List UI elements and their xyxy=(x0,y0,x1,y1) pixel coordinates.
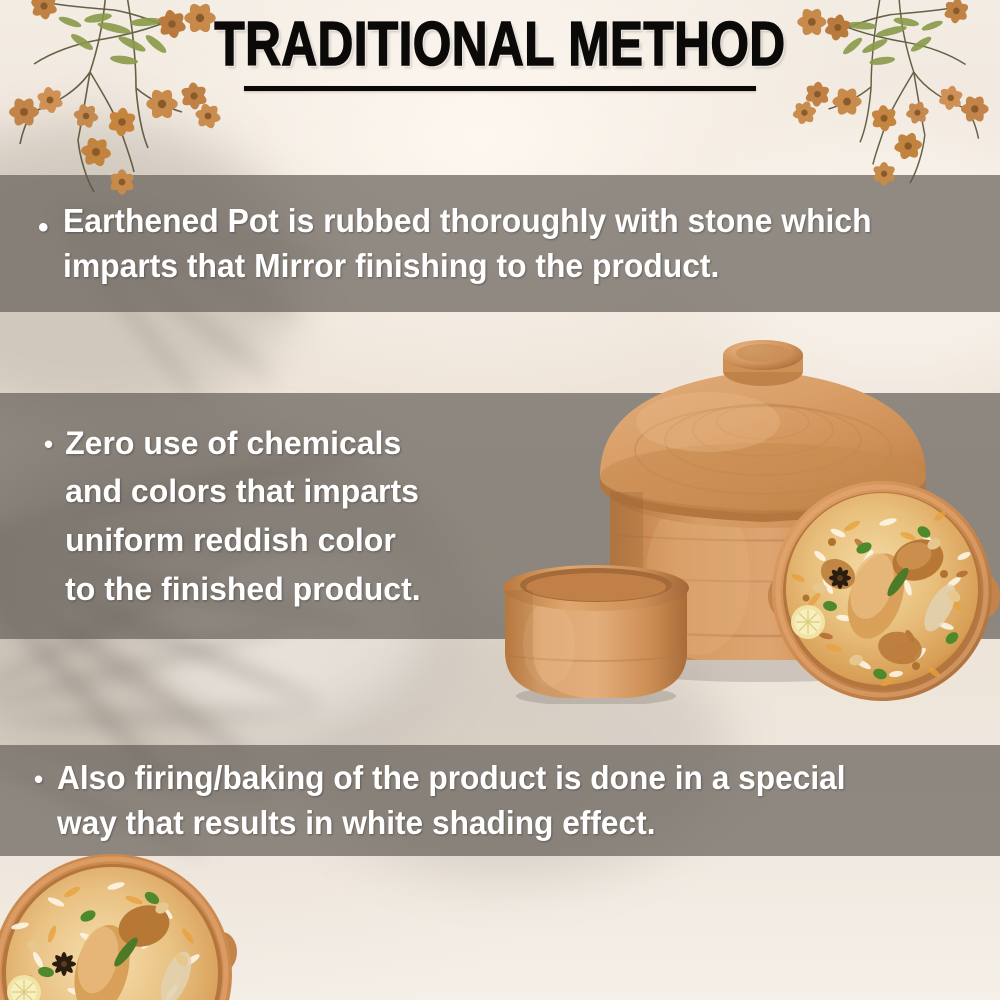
bowl-biryani-bottom xyxy=(0,842,252,1000)
title-block: TRADITIONAL METHOD xyxy=(0,16,1000,91)
bullet-3-line-1: Also firing/baking of the product is don… xyxy=(57,759,846,796)
title-underline xyxy=(244,86,756,91)
bullet-2-text: Zero use of chemicals and colors that im… xyxy=(65,419,421,614)
bullet-marker: • xyxy=(34,766,43,792)
bullet-2-line-2: and colors that imparts xyxy=(65,473,419,509)
bullet-1: • Earthened Pot is rubbed thoroughly wit… xyxy=(0,199,1000,287)
bullet-1-line-2: imparts that Mirror finishing to the pro… xyxy=(63,247,719,284)
bullet-band-1: • Earthened Pot is rubbed thoroughly wit… xyxy=(0,175,1000,312)
bullet-1-text: Earthened Pot is rubbed thoroughly with … xyxy=(63,199,941,287)
bullet-marker: • xyxy=(38,213,49,243)
bowl-biryani-right xyxy=(768,478,1000,704)
page-title: TRADITIONAL METHOD xyxy=(214,16,785,75)
bullet-3-line-2: way that results in white shading effect… xyxy=(57,804,656,841)
bullet-band-3: • Also firing/baking of the product is d… xyxy=(0,745,1000,856)
pot-small xyxy=(487,556,705,704)
bullet-marker: • xyxy=(44,431,53,457)
poster-canvas: TRADITIONAL METHOD xyxy=(0,0,1000,1000)
bullet-2-line-1: Zero use of chemicals xyxy=(65,425,401,461)
bullet-2: • Zero use of chemicals and colors that … xyxy=(0,419,421,614)
bullet-2-line-3: uniform reddish color xyxy=(65,522,396,558)
bullet-2-line-4: to the finished product. xyxy=(65,571,421,607)
bullet-3-text: Also firing/baking of the product is don… xyxy=(57,756,935,846)
bullet-1-line-1: Earthened Pot is rubbed thoroughly with … xyxy=(63,202,872,239)
bullet-3: • Also firing/baking of the product is d… xyxy=(0,756,1000,846)
